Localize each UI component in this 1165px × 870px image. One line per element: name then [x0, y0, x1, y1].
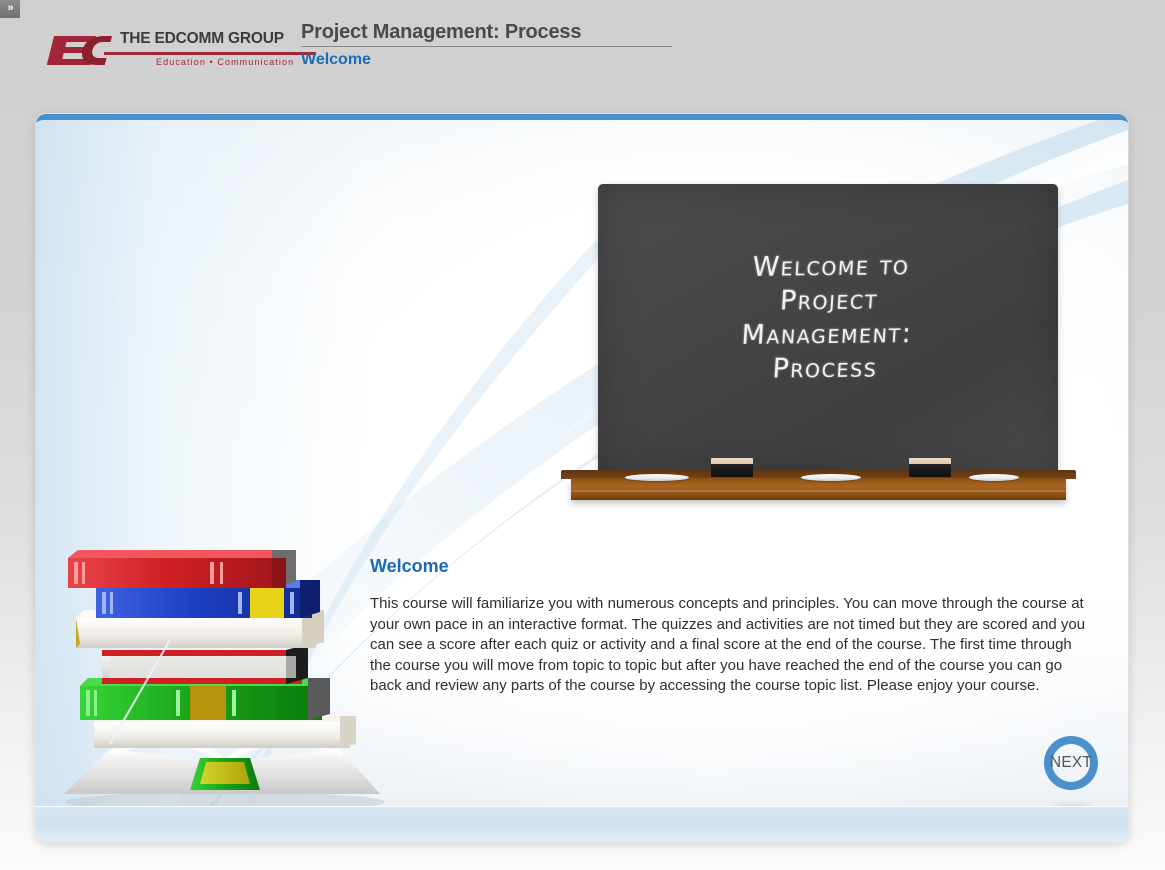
chalkboard-line-4: Process	[594, 350, 1056, 389]
ledge-sheen	[571, 490, 1066, 492]
chalkboard-ledge	[561, 470, 1076, 501]
slide-content: Welcome This course will familiarize you…	[370, 556, 1100, 697]
next-button[interactable]: NEXT	[1040, 732, 1102, 794]
chalk-piece	[969, 474, 1019, 481]
chalkboard: Welcome to Project Management: Process	[561, 184, 1076, 614]
slide-footer-band	[36, 806, 1128, 842]
slide-stage: Welcome to Project Management: Process	[36, 114, 1128, 842]
books-illustration	[50, 544, 390, 814]
course-title: Project Management: Process	[301, 20, 721, 44]
chalkboard-text: Welcome to Project Management: Process	[594, 248, 1062, 389]
eraser-body	[711, 464, 753, 477]
chalk-piece	[801, 474, 861, 481]
chalkboard-eraser	[711, 458, 753, 477]
chalkboard-eraser	[909, 458, 951, 477]
chalk-piece	[625, 474, 689, 481]
chalkboard-line-2: Project	[598, 282, 1060, 321]
ledge-face	[571, 478, 1066, 500]
edcomm-logo: THE EDCOMM GROUP Education • Communicati…	[44, 30, 276, 76]
content-heading: Welcome	[370, 556, 1100, 577]
chalkboard-line-1: Welcome to	[600, 248, 1062, 287]
title-underline	[301, 46, 672, 47]
logo-tagline: Education • Communication	[156, 57, 294, 67]
chalkboard-surface: Welcome to Project Management: Process	[598, 184, 1058, 475]
course-subtitle: Welcome	[301, 49, 721, 71]
page-header: THE EDCOMM GROUP Education • Communicati…	[0, 0, 1165, 108]
expand-panel-toggle[interactable]: »	[0, 0, 20, 18]
eraser-body	[909, 464, 951, 477]
title-block: Project Management: Process Welcome	[301, 20, 721, 71]
edcomm-monogram-icon	[44, 32, 130, 66]
logo-divider	[104, 52, 316, 55]
content-body-text: This course will familiarize you with nu…	[370, 594, 1096, 697]
logo-company-name: THE EDCOMM GROUP	[120, 30, 284, 48]
chalkboard-line-3: Management:	[596, 316, 1058, 355]
